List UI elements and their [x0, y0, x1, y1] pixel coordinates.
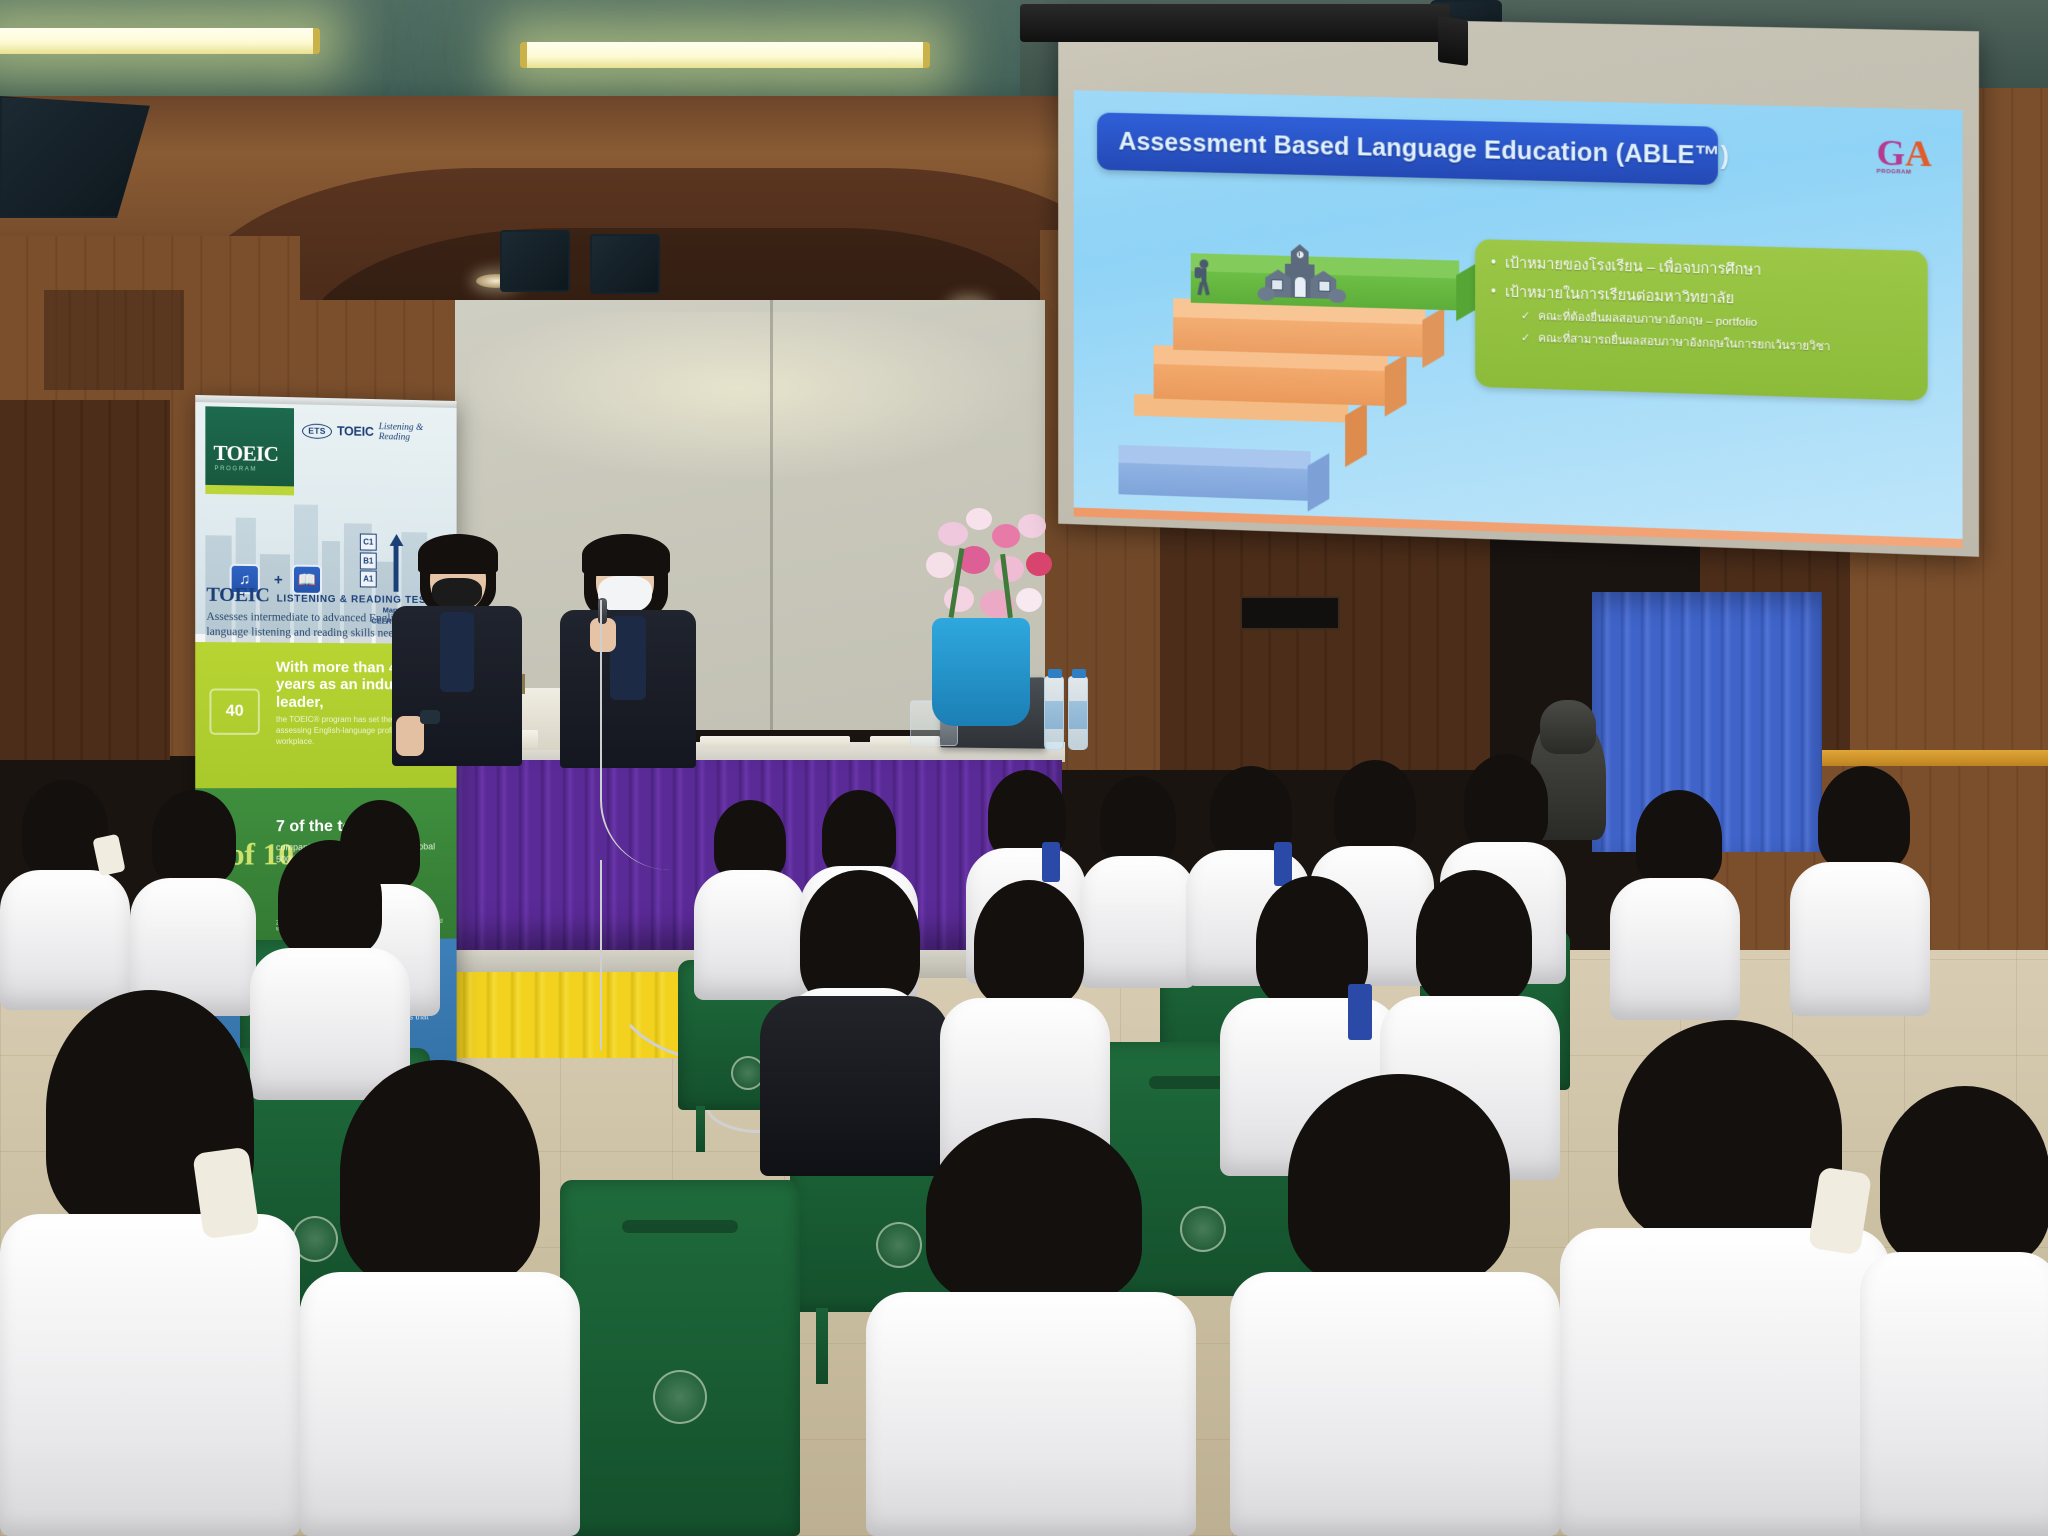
gpa-logo-icon: GA PROGRAM — [1877, 134, 1936, 192]
audience-member-l2 — [130, 790, 256, 1016]
hair-ribbon — [1042, 842, 1060, 882]
slide-bullet-1: • เป้าหมายของโรงเรียน – เพื่อจบการศึกษา — [1491, 254, 1911, 285]
ets-header-row: ETS TOEIC Listening & Reading — [302, 420, 457, 443]
auditorium-scene: Assessment Based Language Education (ABL… — [0, 0, 2048, 1536]
toeic-wordmark: TOEIC — [213, 441, 294, 468]
check-icon: ✓ — [1521, 309, 1530, 324]
chair-leg — [816, 1308, 828, 1384]
student-hair — [822, 790, 896, 876]
toeic-brand-block: TOEIC PROGRAM — [205, 406, 294, 486]
student-hair — [1880, 1086, 2048, 1266]
audience-member-f3 — [866, 1118, 1196, 1536]
audience-member-b9 — [1790, 766, 1930, 1016]
banner-brand-headline: TOEIC — [206, 584, 269, 607]
chair-school-emblem — [653, 1370, 707, 1424]
school-building-icon — [1255, 243, 1346, 309]
flower-vase — [932, 618, 1030, 726]
student-uniform — [1860, 1252, 2048, 1536]
subbullet-text: คณะที่ต้องยื่นผลสอบภาษาอังกฤษ – portfoli… — [1538, 310, 1757, 331]
projector-screen-housing — [1020, 4, 1450, 42]
brand-accent-bar — [205, 485, 294, 496]
water-bottle-2 — [1068, 676, 1088, 750]
slide-title-bar: Assessment Based Language Education (ABL… — [1097, 112, 1718, 185]
audience-member-f6 — [1860, 1086, 2048, 1536]
student-hair — [278, 840, 382, 956]
student-hair — [926, 1118, 1142, 1304]
bullet-text: เป้าหมายของโรงเรียน – เพื่อจบการศึกษา — [1505, 255, 1762, 282]
check-icon: ✓ — [1521, 331, 1530, 346]
audience-member-b8 — [1610, 790, 1740, 1020]
wall-panel-seam — [770, 300, 773, 730]
face-mask — [192, 1147, 259, 1240]
student-hair — [1818, 766, 1910, 870]
student-hair — [974, 880, 1084, 1006]
bullet-marker: • — [1491, 283, 1496, 303]
cefr-level-b1: B1 — [360, 552, 377, 569]
ets-product-name: TOEIC — [337, 424, 374, 439]
wall-light-reflection — [470, 312, 1030, 482]
bottle-label — [1045, 701, 1063, 729]
student-hair — [1288, 1074, 1510, 1286]
student-hair — [1334, 760, 1416, 854]
stat-badge-40: 40 — [209, 688, 259, 734]
student-uniform — [0, 870, 130, 1010]
water-bottle-1 — [1044, 676, 1064, 750]
wall-speaker-1 — [500, 230, 570, 292]
audience-member-f1 — [0, 990, 300, 1536]
audience-member-f2 — [300, 1060, 580, 1536]
student-hair — [340, 1060, 540, 1286]
projector-screen-housing-end — [1438, 16, 1468, 66]
chair-leg — [696, 1106, 705, 1152]
bottle-cap — [1072, 669, 1086, 678]
student-uniform — [866, 1292, 1196, 1536]
student-hair — [1464, 754, 1548, 850]
student-hair — [1100, 776, 1176, 864]
cefr-level-c1: C1 — [360, 533, 377, 550]
presenter-shirt — [440, 612, 474, 692]
fluorescent-light-1 — [0, 28, 320, 54]
subbullet-text: คณะที่สามารถยื่นผลสอบภาษาอังกฤษในการยกเว… — [1538, 332, 1830, 356]
document-stack-3 — [700, 736, 850, 748]
logo-letter-g: G — [1877, 132, 1906, 173]
presentation-slide: Assessment Based Language Education (ABL… — [1074, 90, 1963, 548]
wall-speaker-2 — [590, 234, 660, 294]
audience-member-f5 — [1560, 1020, 1890, 1536]
student-uniform — [1560, 1228, 1890, 1536]
walking-person-icon — [1195, 259, 1215, 297]
student-uniform — [1230, 1272, 1560, 1536]
logo-letter-a: A — [1905, 133, 1932, 174]
fluorescent-light-2 — [520, 42, 930, 68]
student-uniform — [300, 1272, 580, 1536]
student-uniform — [1610, 878, 1740, 1020]
audience-member-l1 — [0, 780, 130, 1010]
slide-subbullet-2: ✓ คณะที่สามารถยื่นผลสอบภาษาอังกฤษในการยก… — [1521, 331, 1911, 358]
presenter-left — [392, 534, 522, 764]
bullet-text: เป้าหมายในการเรียนต่อมหาวิทยาลัย — [1505, 283, 1734, 309]
projector-screen: Assessment Based Language Education (ABL… — [1058, 13, 1979, 557]
wood-recess-left — [44, 290, 184, 390]
bottle-label — [1069, 701, 1087, 729]
presenter-hair-top — [582, 534, 670, 576]
toeic-program-label: PROGRAM — [214, 466, 294, 474]
chair-slot — [622, 1220, 737, 1233]
chair-f4 — [560, 1180, 800, 1536]
microphone-cable-upper — [600, 600, 670, 870]
student-hair — [714, 800, 786, 880]
presenter-hair-top — [418, 534, 498, 574]
wall-vent — [1240, 596, 1340, 630]
wristwatch — [420, 710, 440, 724]
student-hair — [22, 780, 108, 876]
slide-subbullet-1: ✓ คณะที่ต้องยื่นผลสอบภาษาอังกฤษ – portfo… — [1521, 309, 1911, 335]
student-hair — [1618, 1020, 1842, 1242]
student-hair — [800, 870, 920, 1006]
student-hair — [1416, 870, 1532, 1004]
hair-ribbon — [1348, 984, 1372, 1040]
slide-title: Assessment Based Language Education (ABL… — [1118, 127, 1729, 171]
student-uniform — [0, 1214, 300, 1536]
wood-panel-left-dark — [0, 400, 170, 760]
staircase-graphic — [1118, 235, 1443, 505]
student-uniform — [1790, 862, 1930, 1016]
bottle-cap — [1048, 669, 1062, 678]
slide-bullet-box: • เป้าหมายของโรงเรียน – เพื่อจบการศึกษา … — [1475, 239, 1928, 401]
student-hair — [152, 790, 236, 884]
ets-logo-icon: ETS — [302, 423, 332, 439]
student-hair — [1636, 790, 1722, 886]
guardian-lion-head — [1540, 700, 1596, 754]
bullet-marker: • — [1491, 254, 1496, 274]
audience-member-f4 — [1230, 1074, 1560, 1536]
ets-product-subtitle: Listening & Reading — [379, 422, 457, 444]
